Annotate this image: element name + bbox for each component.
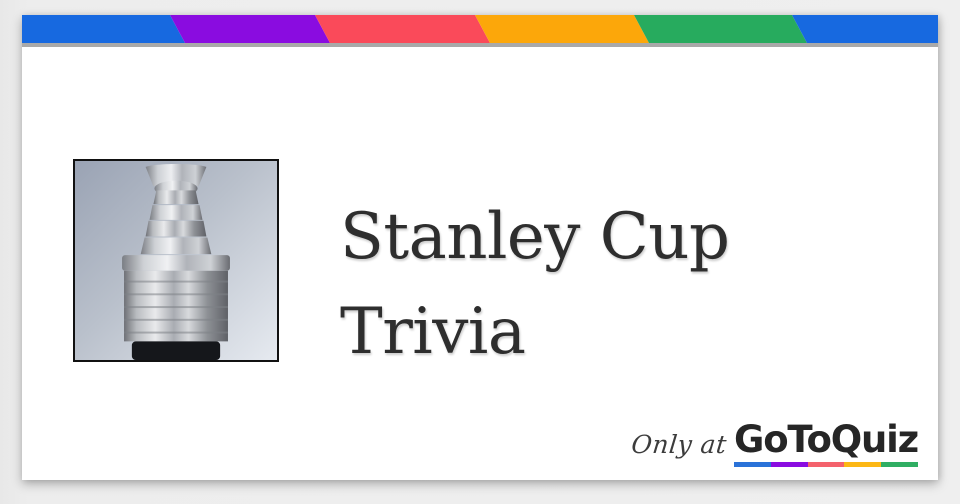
underline-segment-orange <box>844 462 881 467</box>
stripe-green <box>634 15 807 43</box>
card-content: Stanley Cup Trivia Only at GoToQuiz <box>22 47 938 480</box>
rainbow-stripe-band <box>22 15 938 43</box>
page-title: Stanley Cup Trivia <box>340 190 810 379</box>
gotoquiz-logo[interactable]: Only at GoToQuiz <box>631 421 918 467</box>
stanley-cup-image <box>73 159 279 362</box>
quiz-card: Stanley Cup Trivia Only at GoToQuiz <box>22 15 938 480</box>
only-at-label: Only at <box>629 432 728 467</box>
brand-name: GoToQuiz <box>734 421 918 459</box>
brand-underline <box>734 462 918 467</box>
underline-segment-purple <box>771 462 808 467</box>
stripe-orange <box>475 15 649 43</box>
underline-segment-green <box>881 462 918 467</box>
underline-segment-blue <box>734 462 771 467</box>
brand-wrap: GoToQuiz <box>734 421 918 467</box>
underline-segment-red <box>808 462 845 467</box>
stripe-purple <box>170 15 330 43</box>
stripe-red <box>315 15 490 43</box>
page-root: Stanley Cup Trivia Only at GoToQuiz <box>0 0 960 504</box>
stripe-blue-2 <box>792 15 938 43</box>
stripe-blue-1 <box>22 15 185 43</box>
